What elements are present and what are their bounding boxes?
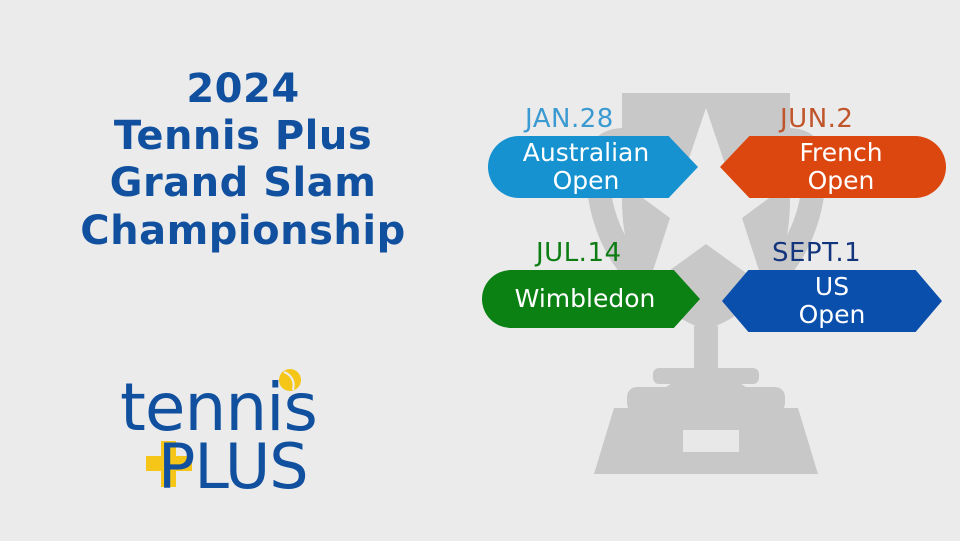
event-banner-wimbledon[interactable]: Wimbledon [482, 270, 700, 328]
event-banner-us-open[interactable]: US Open [722, 270, 942, 332]
event-name-line2-us-open: Open [799, 301, 866, 329]
event-banner-french-open[interactable]: French Open [720, 136, 946, 198]
page-title: 2024 Tennis Plus Grand Slam Championship [38, 66, 448, 255]
event-name-line1-australian-open: Australian [523, 139, 649, 167]
event-name-line2-australian-open: Open [523, 167, 649, 195]
event-date-australian-open: JAN.28 [525, 104, 614, 134]
poster-canvas: 2024 Tennis Plus Grand Slam Championship… [0, 0, 960, 541]
event-us-open[interactable]: SEPT.1 US Open [710, 238, 960, 348]
event-name-line1-french-open: French [799, 139, 882, 167]
event-australian-open[interactable]: JAN.28 Australian Open [470, 104, 710, 216]
headline-line-3: Championship [38, 208, 448, 255]
event-wimbledon[interactable]: JUL.14 Wimbledon [470, 238, 710, 348]
event-french-open[interactable]: JUN.2 French Open [712, 104, 952, 216]
event-banner-australian-open[interactable]: Australian Open [488, 136, 698, 198]
brand-logo: tennis PLUS [120, 368, 360, 498]
event-date-us-open: SEPT.1 [772, 238, 861, 268]
headline-year: 2024 [38, 66, 448, 113]
tennis-ball-icon [279, 369, 301, 391]
logo-word-plus: PLUS [158, 430, 308, 498]
event-name-line1-us-open: US [799, 273, 866, 301]
event-name-line2-french-open: Open [799, 167, 882, 195]
headline-line-2: Grand Slam [38, 160, 448, 207]
headline-line-1: Tennis Plus [38, 113, 448, 160]
event-date-wimbledon: JUL.14 [536, 238, 622, 268]
event-name-line1-wimbledon: Wimbledon [515, 285, 656, 313]
event-date-french-open: JUN.2 [780, 104, 853, 134]
